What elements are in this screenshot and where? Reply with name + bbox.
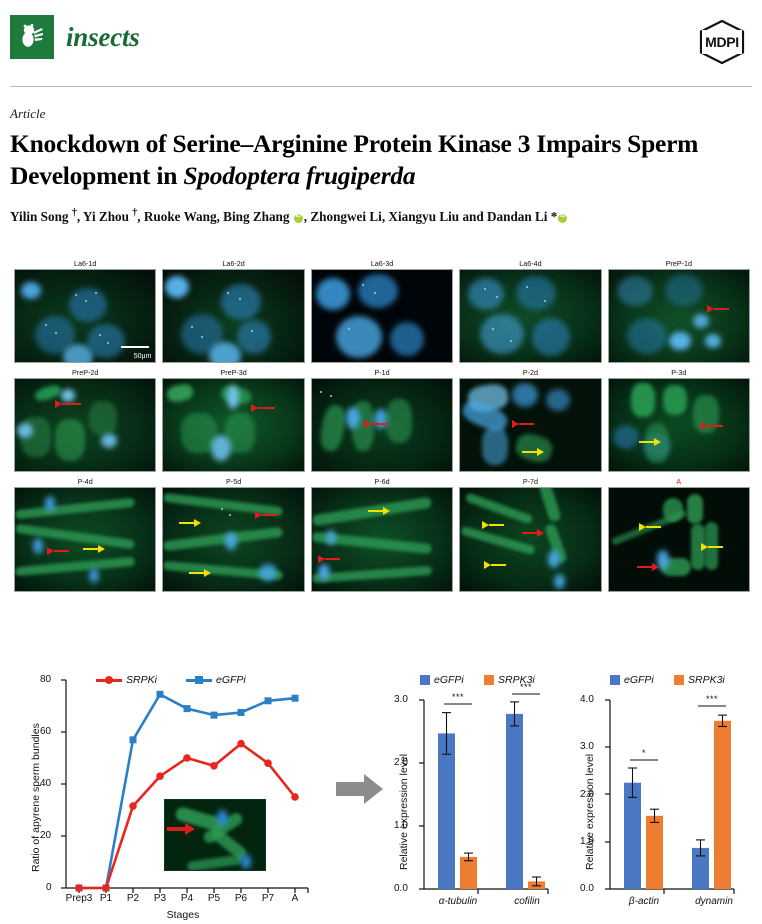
micrograph-cell: La6-3d xyxy=(311,258,453,363)
micrograph-label: La6-1d xyxy=(14,258,156,269)
bar-chart-1-canvas xyxy=(388,672,576,924)
x-tick-label: dynamin xyxy=(684,896,744,907)
x-tick-label: P2 xyxy=(119,893,147,904)
inset-nucleus xyxy=(217,810,228,826)
micrograph-row-2: PreP-2d PreP-3d xyxy=(14,367,750,472)
bar-chart-actin-dynamin: Relative expression level eGFPi SRPK3i 4… xyxy=(576,672,762,924)
x-tick-label: P3 xyxy=(146,893,174,904)
micrograph-label: PreP-1d xyxy=(608,258,750,269)
bar-chart-tubulin-cofilin: Relative expression level eGFPi SRPK3i 3… xyxy=(388,672,576,924)
micrograph-cell: PreP-1d xyxy=(608,258,750,363)
micrograph-row-3: P-4d xyxy=(14,476,750,592)
micrograph-image xyxy=(459,487,601,592)
orcid-icon[interactable] xyxy=(294,214,303,223)
micrograph-image xyxy=(608,378,750,472)
scale-bar xyxy=(121,346,149,349)
micrograph-image xyxy=(162,487,304,592)
scale-bar-label: 50µm xyxy=(134,353,152,360)
micrograph-cell: P-3d xyxy=(608,367,750,472)
inset-nucleus xyxy=(241,854,251,869)
micrograph-image xyxy=(459,378,601,472)
line-chart: Ratio of apyrene sperm bundles 80 60 40 … xyxy=(18,672,330,924)
micrograph-cell: P-4d xyxy=(14,476,156,592)
micrograph-row-1: La6-1d 50µm xyxy=(14,258,750,363)
significance-marker: *** xyxy=(512,682,540,692)
x-tick-label: P5 xyxy=(200,893,228,904)
micrograph-cell: A xyxy=(608,476,750,592)
micrograph-cell: P-7d xyxy=(459,476,601,592)
line-chart-x-axis-title: Stages xyxy=(148,909,218,921)
inset-sperm-tail xyxy=(187,854,244,871)
masthead-divider xyxy=(10,86,752,87)
dagger-marker: † xyxy=(132,208,137,219)
significance-marker: * xyxy=(630,748,658,758)
micrograph-image: 50µm xyxy=(14,269,156,363)
micrograph-label: P-4d xyxy=(14,476,156,487)
micrograph-image xyxy=(608,487,750,592)
x-tick-label: P6 xyxy=(227,893,255,904)
mdpi-hexagon-icon: MDPI xyxy=(696,18,748,66)
x-tick-label: A xyxy=(281,893,309,904)
line-chart-inset-micrograph xyxy=(164,799,266,871)
title-species-name: Spodoptera frugiperda xyxy=(183,161,415,190)
micrograph-cell: P-6d xyxy=(311,476,453,592)
line-chart-canvas xyxy=(18,672,330,924)
x-tick-label: P1 xyxy=(92,893,120,904)
title-line-2-prefix: Development in xyxy=(10,161,183,190)
journal-title: insects xyxy=(66,22,140,53)
charts-figure: Ratio of apyrene sperm bundles 80 60 40 … xyxy=(0,672,762,924)
micrograph-image xyxy=(311,487,453,592)
micrograph-cell: PreP-2d xyxy=(14,367,156,472)
micrograph-image xyxy=(14,378,156,472)
x-tick-label: P4 xyxy=(173,893,201,904)
micrograph-cell: La6-2d xyxy=(162,258,304,363)
dagger-marker: † xyxy=(72,208,77,219)
title-line-1: Knockdown of Serine–Arginine Protein Kin… xyxy=(10,129,698,158)
significance-marker: *** xyxy=(444,692,472,702)
author-segment-1: Yilin Song †, Yi Zhou †, Ruoke Wang, Bin… xyxy=(10,209,568,224)
x-tick-label: β-actin xyxy=(614,896,674,907)
micrograph-cell: P-5d xyxy=(162,476,304,592)
x-tick-label: α-tubulin xyxy=(428,896,488,907)
micrograph-label: P-2d xyxy=(459,367,601,378)
article-type: Article xyxy=(10,106,45,122)
micrograph-label: La6-2d xyxy=(162,258,304,269)
masthead: insects MDPI xyxy=(0,0,762,92)
micrograph-label: PreP-2d xyxy=(14,367,156,378)
bar-chart-2-canvas xyxy=(576,672,762,924)
micrograph-cell: PreP-3d xyxy=(162,367,304,472)
right-arrow-icon xyxy=(336,772,384,806)
micrograph-cell: P-1d xyxy=(311,367,453,472)
micrograph-cell: P-2d xyxy=(459,367,601,472)
micrograph-label: A xyxy=(608,476,750,487)
micrograph-image xyxy=(14,487,156,592)
micrograph-label: PreP-3d xyxy=(162,367,304,378)
micrograph-label: La6-3d xyxy=(311,258,453,269)
micrograph-label: P-5d xyxy=(162,476,304,487)
micrograph-label: P-1d xyxy=(311,367,453,378)
x-tick-label: P7 xyxy=(254,893,282,904)
micrograph-image xyxy=(162,269,304,363)
insect-silhouette-icon xyxy=(10,15,54,59)
mdpi-label: MDPI xyxy=(696,18,748,66)
micrograph-image xyxy=(459,269,601,363)
micrograph-image xyxy=(311,269,453,363)
x-tick-label: cofilin xyxy=(500,896,554,907)
journal-logo-block: insects xyxy=(10,15,140,59)
micrograph-cell: La6-1d 50µm xyxy=(14,258,156,363)
article-page: insects MDPI Article Knockdown of Serine… xyxy=(0,0,762,924)
micrograph-image xyxy=(162,378,304,472)
micrograph-label: La6-4d xyxy=(459,258,601,269)
significance-marker: *** xyxy=(698,694,726,704)
micrograph-figure: La6-1d 50µm xyxy=(14,258,750,596)
micrograph-label: P-3d xyxy=(608,367,750,378)
micrograph-label: P-7d xyxy=(459,476,601,487)
page-title: Knockdown of Serine–Arginine Protein Kin… xyxy=(10,128,750,192)
orcid-icon[interactable] xyxy=(558,214,567,223)
micrograph-cell: La6-4d xyxy=(459,258,601,363)
author-list: Yilin Song †, Yi Zhou †, Ruoke Wang, Bin… xyxy=(10,208,752,225)
micrograph-image xyxy=(608,269,750,363)
micrograph-image xyxy=(311,378,453,472)
micrograph-label: P-6d xyxy=(311,476,453,487)
